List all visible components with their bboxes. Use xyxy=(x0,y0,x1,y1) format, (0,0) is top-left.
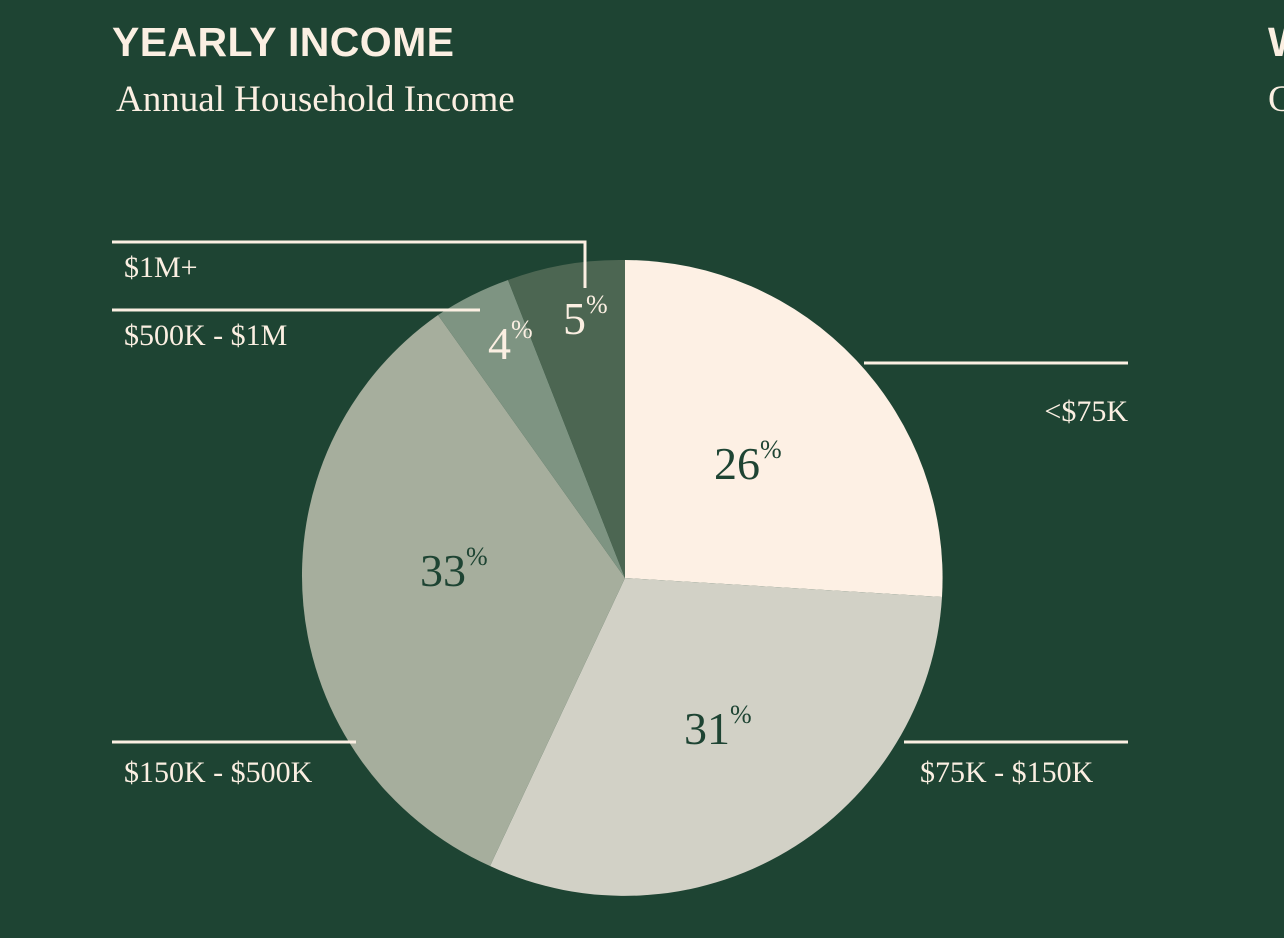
income-pie-chart-panel: YEARLY INCOME Annual Household Income W … xyxy=(0,0,1284,938)
pie-slice-lt75k[interactable] xyxy=(625,260,943,597)
pie-chart-graphic: 26% 31% 33% 4% 5% xyxy=(0,0,1284,938)
callout-label-75k-150k: $75K - $150K xyxy=(920,757,1093,789)
callout-label-lt75k: <$75K xyxy=(1044,396,1128,428)
callout-label-1m-plus: $1M+ xyxy=(124,252,198,284)
callout-label-500k-1m: $500K - $1M xyxy=(124,320,287,352)
callout-label-150k-500k: $150K - $500K xyxy=(124,757,312,789)
